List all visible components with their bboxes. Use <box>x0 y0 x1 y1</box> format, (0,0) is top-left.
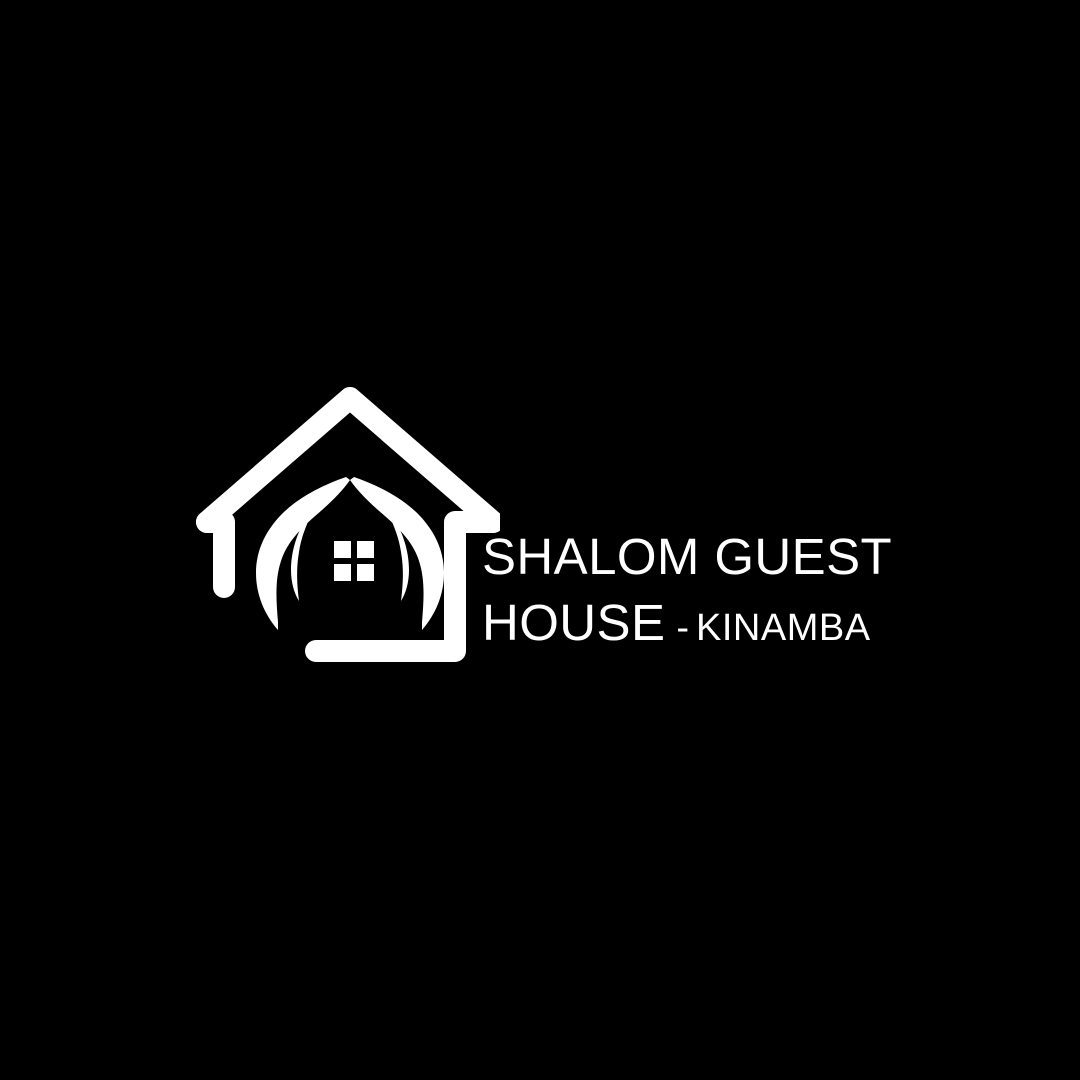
wordmark-separator-dash: - <box>676 609 689 647</box>
window-grid <box>334 541 374 581</box>
left-wall-stub <box>207 522 224 587</box>
wordmark-line-primary: SHALOM GUEST <box>482 531 892 582</box>
logo-canvas: SHALOM GUEST HOUSE - KINAMBA <box>0 0 1080 1080</box>
window-pane-top-left <box>334 541 351 558</box>
wordmark-line-secondary: HOUSE - KINAMBA <box>482 597 871 648</box>
wordmark-house-text: HOUSE <box>482 597 665 648</box>
wordmark-location-text: KINAMBA <box>696 609 871 647</box>
window-pane-top-right <box>357 541 374 558</box>
brand-logo-lockup: SHALOM GUEST HOUSE - KINAMBA <box>190 385 890 680</box>
house-with-cradling-hands-icon <box>190 385 500 675</box>
window-pane-bottom-left <box>334 564 351 581</box>
roof-chevron-shape <box>207 398 493 522</box>
brand-wordmark: SHALOM GUEST HOUSE - KINAMBA <box>482 385 892 648</box>
window-pane-bottom-right <box>357 564 374 581</box>
house-mark-svg <box>190 385 500 675</box>
